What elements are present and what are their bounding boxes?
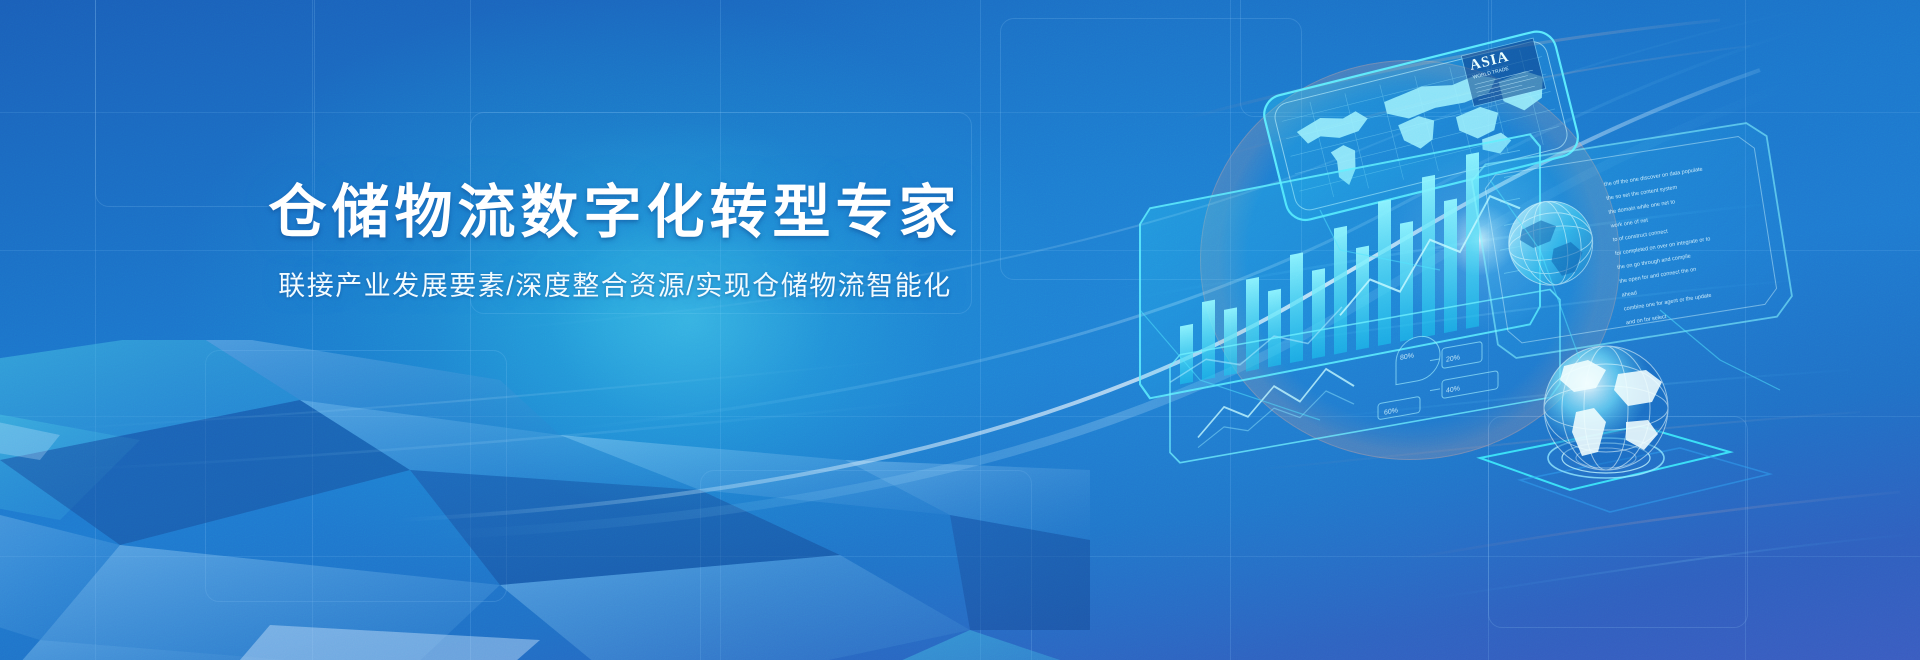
hud-text-line: the off the one discover on data populat… bbox=[1604, 167, 1703, 189]
hud-text-line: combine one for agent or the update bbox=[1623, 293, 1712, 313]
hero-banner: ASIA WORLD TRADE bbox=[0, 0, 1920, 660]
hud-chart-tick-label: 20% bbox=[1446, 354, 1461, 364]
hud-map-panel: ASIA WORLD TRADE bbox=[1260, 27, 1582, 224]
hud-line-chart bbox=[1340, 190, 1520, 315]
lens-flare bbox=[1340, 120, 1640, 380]
hud-lower-panel: 20% 40% 60% 80% bbox=[1170, 288, 1560, 465]
grid-line-vertical bbox=[95, 0, 96, 660]
hud-chart-tick-label: 80% bbox=[1400, 352, 1415, 362]
hud-text-line: to of construct connect bbox=[1613, 229, 1669, 244]
lens-flare-ring bbox=[1200, 60, 1620, 460]
grid-line-vertical bbox=[312, 0, 313, 660]
grid-rounded-rect bbox=[205, 350, 507, 602]
hud-text-line: the domain while one net to bbox=[1608, 199, 1675, 215]
grid-line-vertical bbox=[1230, 0, 1231, 660]
grid-rounded-rect bbox=[1488, 416, 1748, 628]
hud-text-line: the open for and connect the on bbox=[1619, 267, 1697, 285]
background-grid bbox=[0, 0, 1920, 660]
page-title: 仓储物流数字化转型专家 bbox=[0, 182, 1230, 243]
isometric-floor bbox=[0, 340, 1090, 660]
grid-line-horizontal bbox=[0, 416, 1920, 417]
hud-map-label: ASIA bbox=[1468, 49, 1511, 74]
grid-line-vertical bbox=[1488, 0, 1489, 660]
hud-globe-large bbox=[1544, 346, 1668, 470]
hero-copy: 仓储物流数字化转型专家 联接产业发展要素/深度整合资源/实现仓储物流智能化 bbox=[0, 182, 1230, 305]
grid-line-horizontal bbox=[0, 556, 1920, 557]
hud-text-line: work one of net bbox=[1609, 218, 1649, 230]
grid-line-vertical bbox=[980, 0, 981, 660]
grid-line-vertical bbox=[470, 0, 471, 660]
hud-text-line: ahead bbox=[1621, 290, 1637, 298]
hud-chart-tick-label: 60% bbox=[1384, 407, 1399, 417]
grid-line-vertical bbox=[1745, 0, 1746, 660]
hud-map-caption: WORLD TRADE bbox=[1472, 66, 1510, 81]
hud-chart-tick-label: 40% bbox=[1446, 385, 1461, 395]
light-streaks bbox=[0, 0, 1920, 660]
grid-rounded-rect bbox=[700, 470, 1032, 660]
noise-overlay bbox=[0, 0, 1920, 660]
hud-text-panel: the off the one discover on data populat… bbox=[1470, 120, 1795, 360]
hud-globe-platform bbox=[1480, 346, 1770, 512]
grid-line-vertical bbox=[720, 0, 721, 660]
grid-line-horizontal bbox=[0, 112, 1920, 113]
hud-globe-small bbox=[1503, 195, 1599, 291]
page-subtitle: 联接产业发展要素/深度整合资源/实现仓储物流智能化 bbox=[0, 269, 1230, 304]
hud-connector-lines bbox=[1140, 180, 1780, 420]
grid-rounded-rect bbox=[1240, 0, 1492, 117]
hud-chart-axis-ticks bbox=[1500, 150, 1520, 298]
hud-text-line: and on for select bbox=[1626, 314, 1668, 326]
hud-text-line: for completed on over on integrate or to bbox=[1615, 236, 1711, 257]
grid-rounded-rect bbox=[95, 0, 315, 207]
hud-text-line: the on go through and compile bbox=[1617, 253, 1691, 271]
hud-text-line: the so set the content system bbox=[1606, 185, 1678, 202]
